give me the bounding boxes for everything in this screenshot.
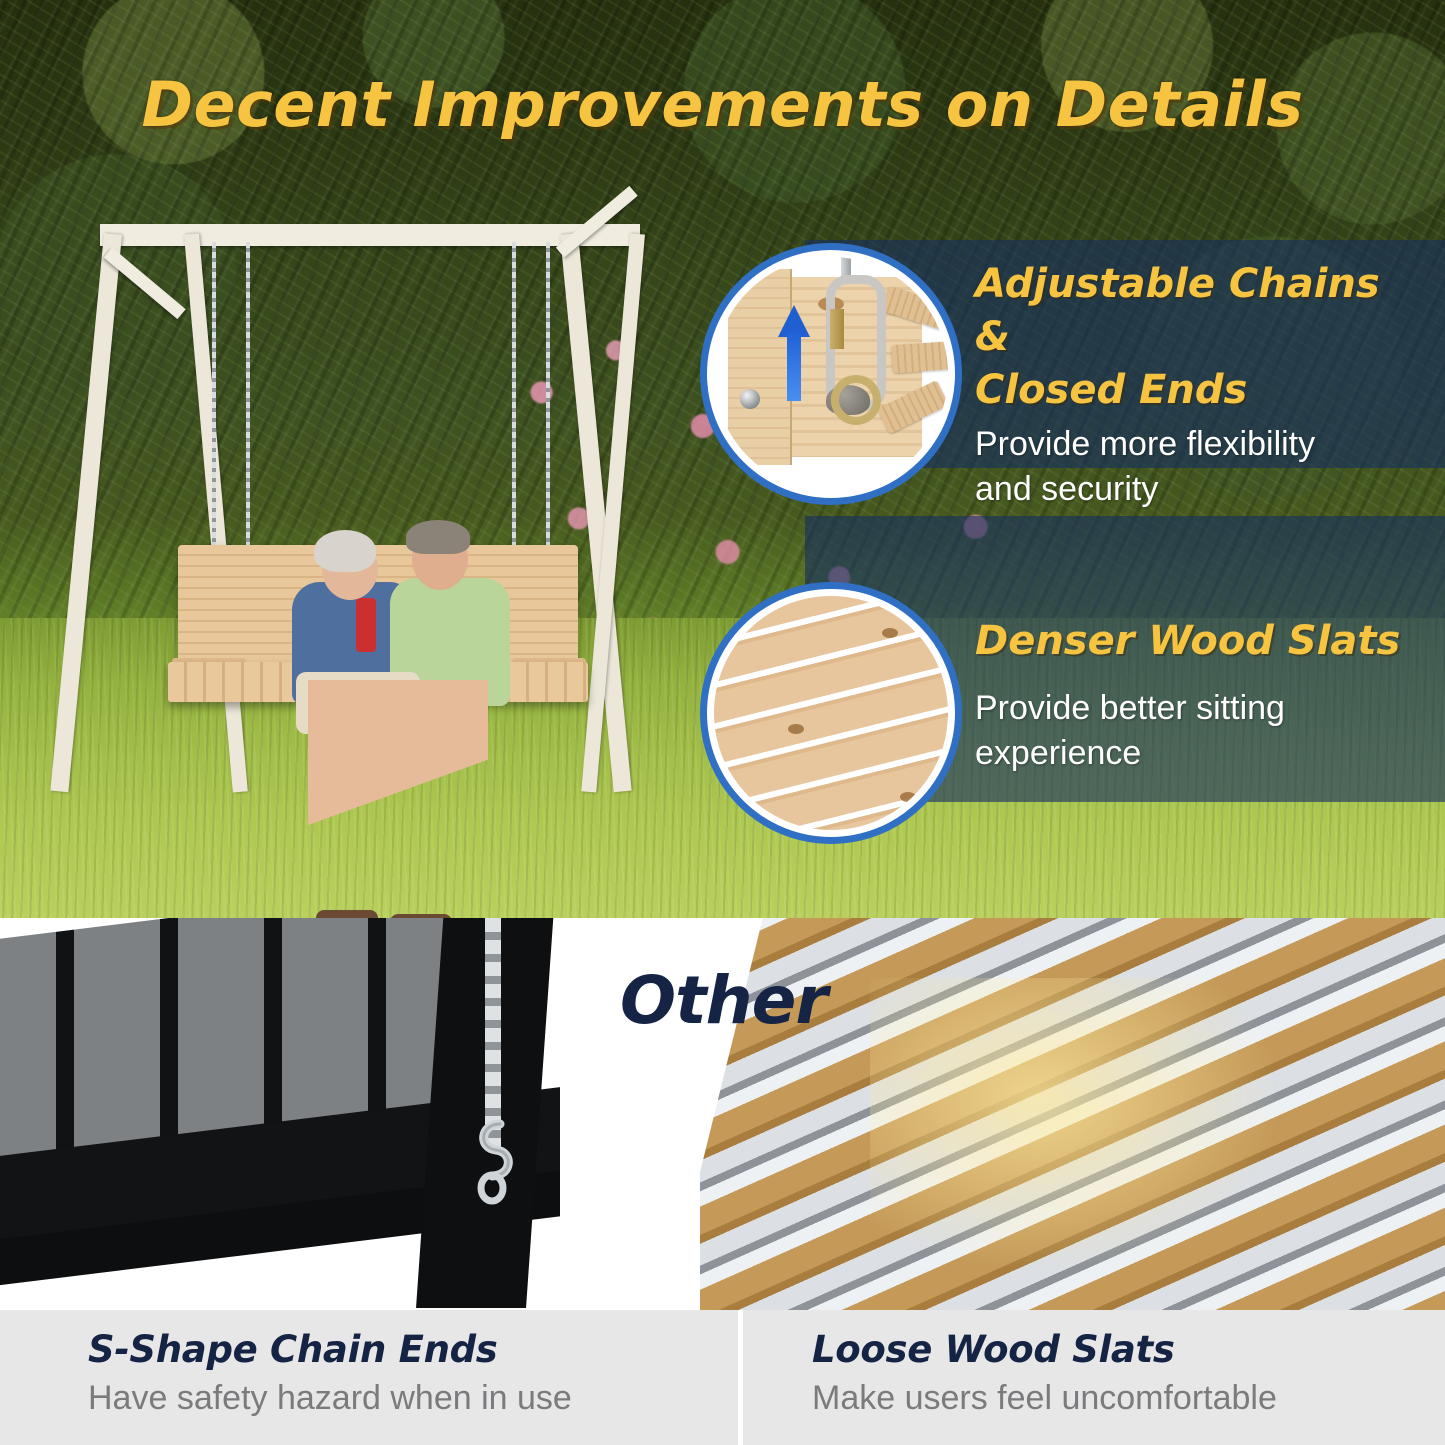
screw-head-icon	[740, 389, 760, 409]
page-title: Decent Improvements on Details	[0, 68, 1445, 141]
comparison-photo-s-shape-chain	[0, 918, 640, 1318]
caption-s-shape-chain-ends: S-Shape Chain Ends Have safety hazard wh…	[88, 1328, 572, 1418]
feature-inset-image-2	[714, 596, 948, 830]
quick-link-nut	[830, 309, 844, 349]
eye-bolt-ring	[831, 375, 881, 425]
feature-callout-adjustable-chains: Adjustable Chains & Closed Ends Provide …	[975, 258, 1415, 512]
porch-swing-photo	[60, 210, 680, 830]
swing-chain-left-rear	[212, 242, 216, 562]
woman-hair	[314, 530, 376, 572]
hanging-chain	[485, 918, 501, 1148]
caption-subtitle: Make users feel uncomfortable	[812, 1379, 1277, 1418]
feature-1-title-line2: Closed Ends	[975, 364, 1415, 417]
woman-scarf	[356, 598, 376, 652]
man-hair	[406, 520, 470, 554]
dense-wood-slats-photo	[714, 596, 948, 830]
caption-subtitle: Have safety hazard when in use	[88, 1379, 572, 1418]
s-hook-icon	[470, 1118, 516, 1208]
woman-legs	[308, 680, 488, 918]
feature-1-title-line1: Adjustable Chains &	[975, 258, 1415, 364]
wood-knot	[788, 724, 804, 734]
caption-title: Loose Wood Slats	[812, 1328, 1277, 1371]
feature-2-title-line1: Denser Wood Slats	[975, 615, 1415, 668]
sunlight-glare	[870, 978, 1290, 1278]
swing-chain-right-rear	[512, 242, 516, 562]
feature-callout-denser-slats: Denser Wood Slats Provide better sitting…	[975, 615, 1415, 776]
wood-knot	[882, 628, 898, 638]
feature-inset-circle-denser-slats	[700, 582, 962, 844]
wood-knot	[900, 792, 916, 802]
caption-loose-wood-slats: Loose Wood Slats Make users feel uncomfo…	[812, 1328, 1277, 1418]
hero-section: Decent Improvements on Details	[0, 0, 1445, 918]
swing-left-post	[50, 233, 122, 792]
swing-top-beam	[100, 224, 640, 246]
feature-inset-image-1	[714, 257, 948, 491]
chain-hardware-photo	[714, 257, 948, 491]
comparison-captions-bar: S-Shape Chain Ends Have safety hazard wh…	[0, 1310, 1445, 1445]
up-arrow-icon	[778, 305, 810, 401]
feature-inset-circle-adjustable-chains	[700, 243, 962, 505]
feature-1-desc-line2: and security	[975, 467, 1415, 512]
comparison-section-label: Other	[620, 962, 827, 1039]
caption-divider	[738, 1310, 743, 1445]
feature-2-desc-line2: experience	[975, 731, 1415, 776]
product-feature-infographic: Decent Improvements on Details	[0, 0, 1445, 1445]
feature-1-desc-line1: Provide more flexibility	[975, 422, 1415, 467]
feature-2-desc-line1: Provide better sitting	[975, 686, 1415, 731]
caption-title: S-Shape Chain Ends	[88, 1328, 572, 1371]
slat-piece-2	[891, 341, 948, 374]
sandal-left	[316, 910, 378, 918]
